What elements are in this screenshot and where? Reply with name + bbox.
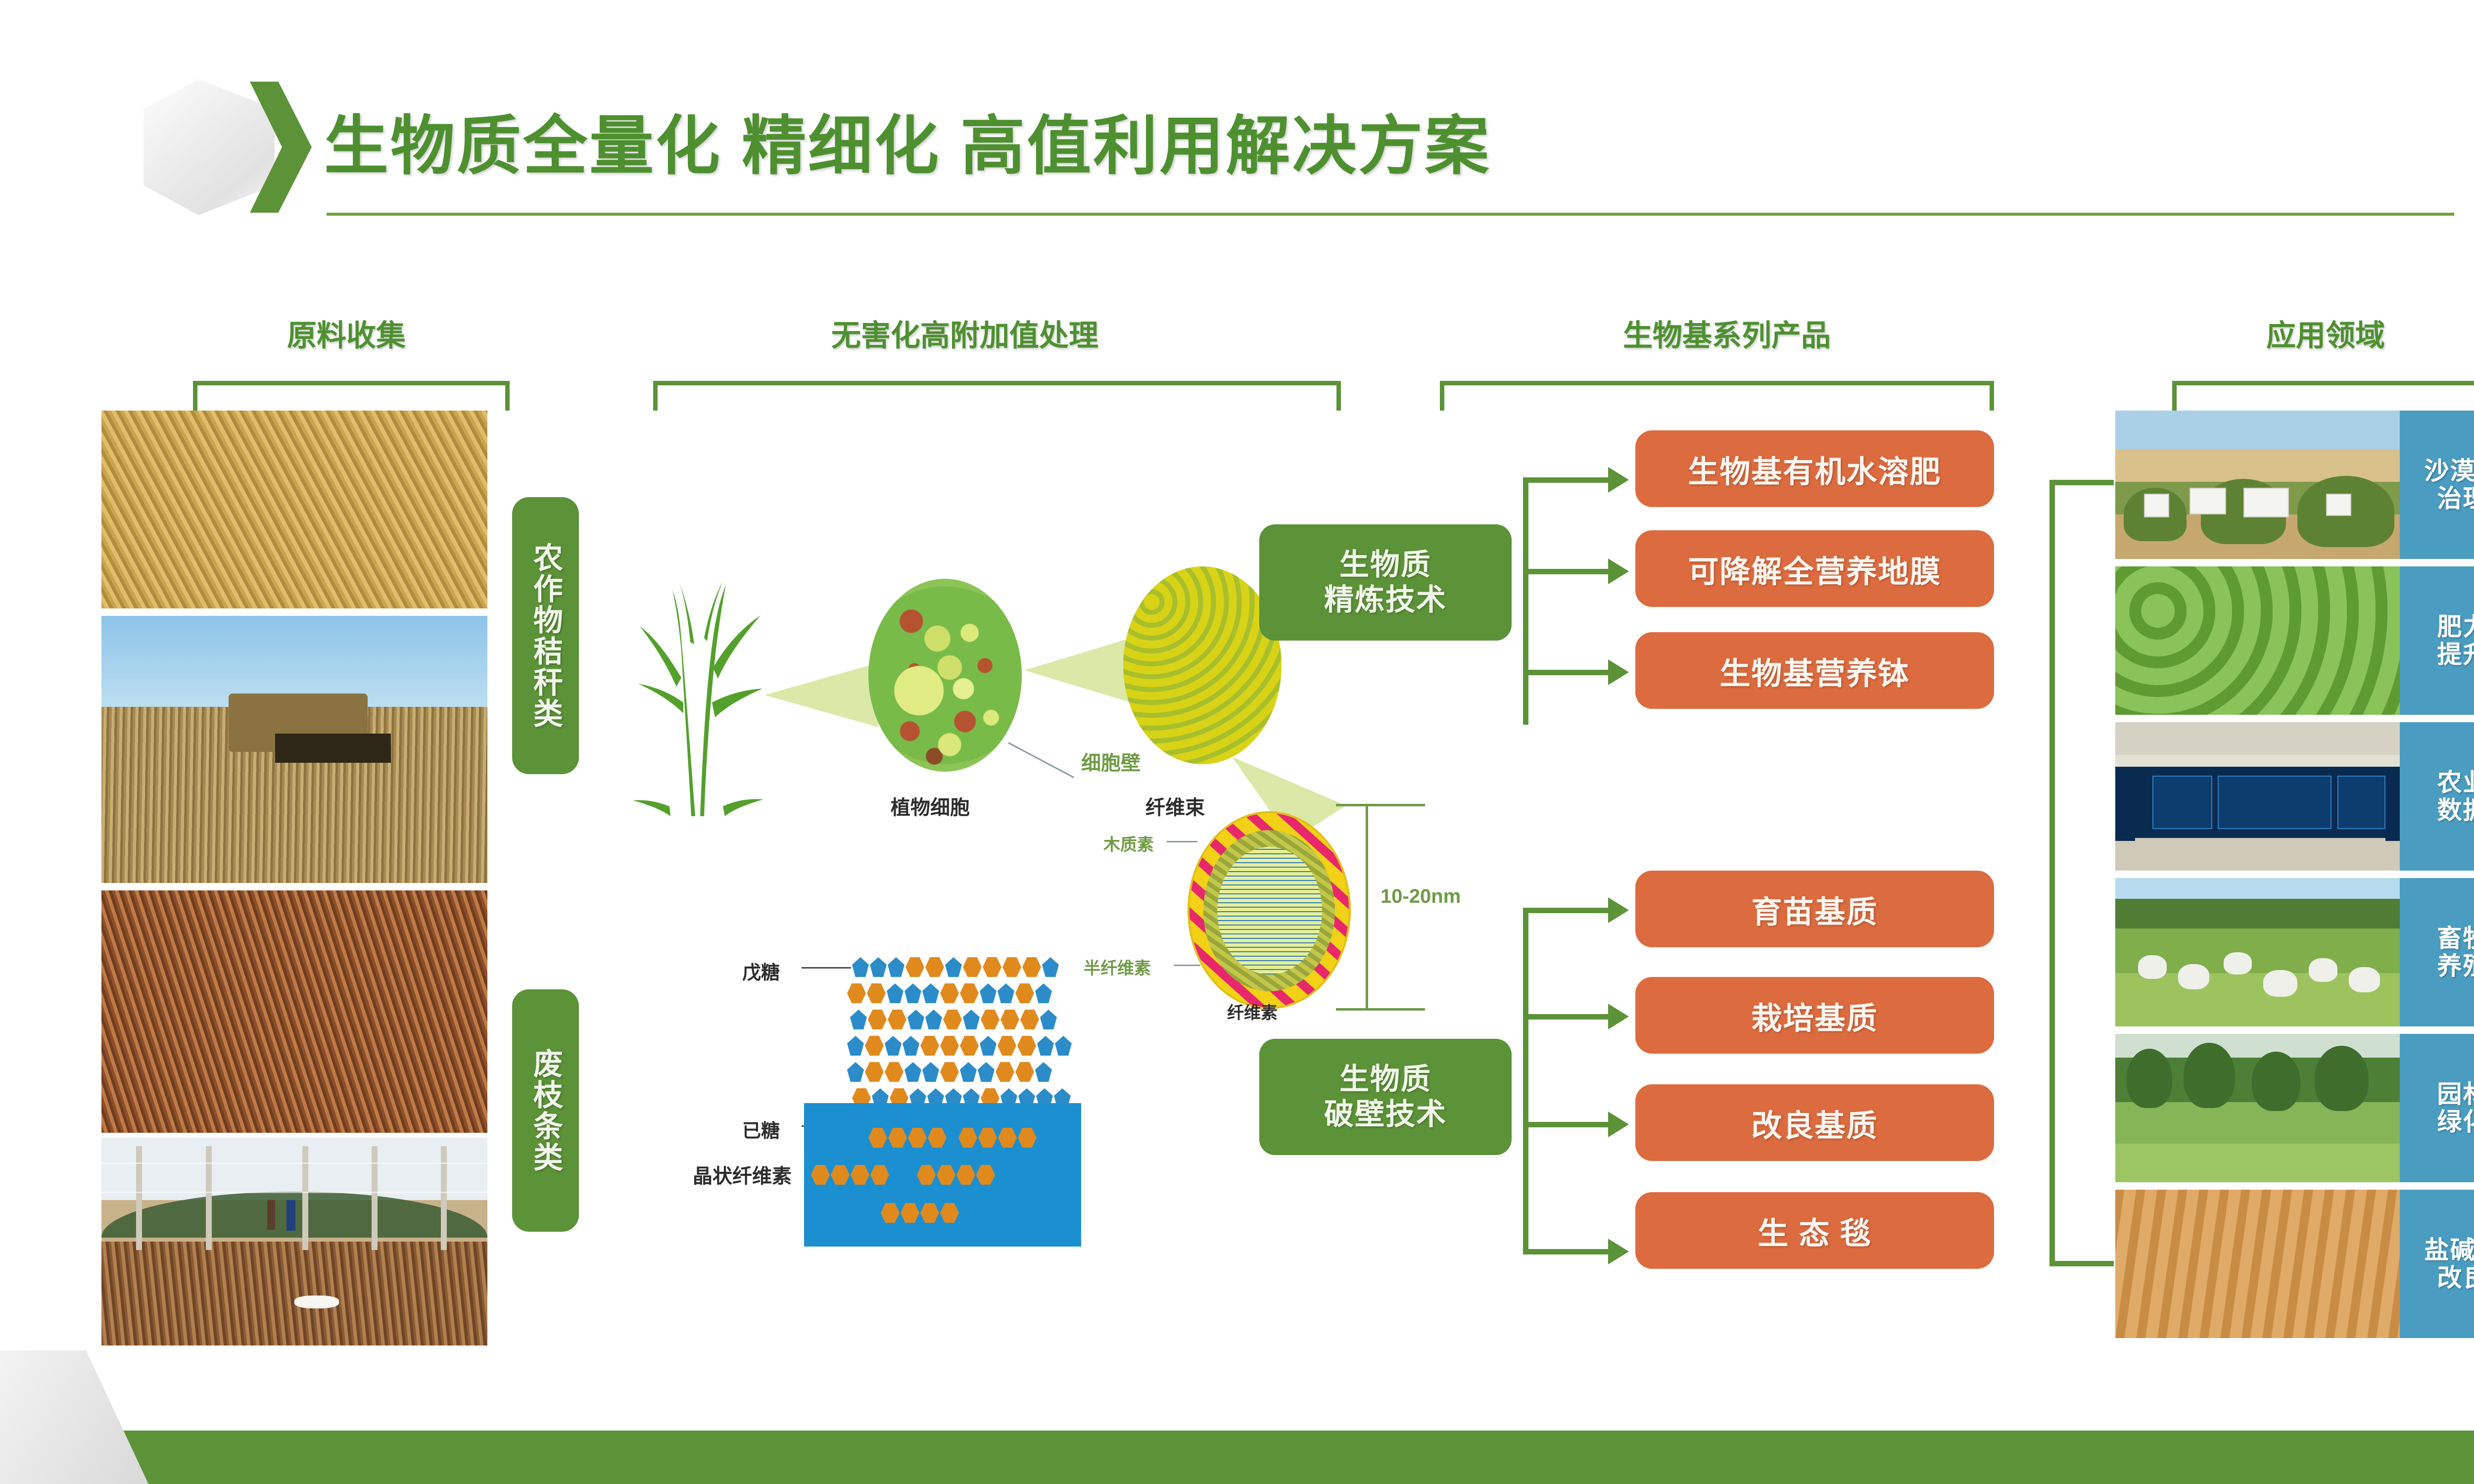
app-tag-line2: 治理 bbox=[2437, 485, 2474, 512]
feedstock-photo-straw-closeup bbox=[101, 411, 487, 608]
product-box-seedling-substrate[interactable]: 育苗基质 bbox=[1635, 871, 1994, 947]
section-header-applications: 应用领域 bbox=[2118, 312, 2474, 355]
application-tag-landscape-greening[interactable]: 园林 绿化 bbox=[2400, 1034, 2474, 1182]
label-hemicellulose: 半纤维素 bbox=[1084, 955, 1151, 979]
feedstock-tab-crop-straw[interactable]: 农作物秸秆类 bbox=[512, 497, 579, 774]
label-lignin: 木质素 bbox=[1103, 831, 1154, 855]
magnify-wedge-2 bbox=[1024, 638, 1131, 702]
sugar-chain-row bbox=[847, 983, 1052, 1003]
application-photo-cabbage-field bbox=[2115, 566, 2400, 715]
connector-branch-top-2 bbox=[1523, 569, 1612, 574]
app-tag-line1: 肥力 bbox=[2437, 613, 2474, 641]
connector-branch-top-3 bbox=[1523, 670, 1612, 675]
hexagon-decoration bbox=[143, 79, 275, 215]
footer-corner-decoration bbox=[0, 1350, 148, 1484]
application-photo-sheep-pasture bbox=[2115, 878, 2400, 1026]
connector-branch-bottom-1 bbox=[1523, 908, 1612, 913]
arrow-head-top-2 bbox=[1608, 558, 1629, 584]
section-header-processing: 无害化高附加值处理 bbox=[579, 312, 1351, 355]
arrow-head-bottom-2 bbox=[1608, 1004, 1629, 1029]
bracket-processing bbox=[653, 381, 1341, 411]
app-tag-line2: 改良 bbox=[2437, 1264, 2474, 1292]
application-tag-livestock-farming[interactable]: 畜牧 养殖 bbox=[2400, 878, 2474, 1026]
fiber-bundle-illustration bbox=[1123, 566, 1282, 764]
sugar-chain-row bbox=[852, 957, 1059, 977]
dimension-tick-bottom bbox=[1336, 1008, 1425, 1011]
application-photo-data-center bbox=[2115, 722, 2400, 871]
sugar-chain-row bbox=[847, 1062, 1052, 1082]
label-plant-cell: 植物细胞 bbox=[891, 791, 970, 820]
bracket-applications bbox=[2172, 381, 2474, 411]
product-box-improvement-substrate[interactable]: 改良基质 bbox=[1635, 1084, 1994, 1161]
sugar-chain-row bbox=[847, 1036, 1072, 1056]
app-tag-line2: 数据 bbox=[2437, 796, 2474, 824]
app-tag-line1: 园林 bbox=[2437, 1080, 2474, 1108]
applications-bracket-bottom bbox=[2049, 1261, 2114, 1266]
title-divider bbox=[327, 213, 2454, 216]
application-tag-saline-soil-improvement[interactable]: 盐碱地 改良 bbox=[2400, 1190, 2474, 1338]
cell-wall-leader-line bbox=[1008, 742, 1074, 778]
section-header-products: 生物基系列产品 bbox=[1445, 312, 2009, 355]
feedstock-photo-orchard-prunings bbox=[101, 1138, 487, 1345]
application-tag-desertification-control[interactable]: 沙漠化 治理 bbox=[2400, 411, 2474, 559]
label-pentose: 戊糖 bbox=[742, 957, 780, 984]
arrow-head-bottom-3 bbox=[1608, 1112, 1629, 1137]
infographic-canvas: 生物质全量化 精细化 高值利用解决方案 原料收集 无害化高附加值处理 生物基系列… bbox=[0, 0, 2474, 1484]
tech-breaking-line2: 破壁技术 bbox=[1324, 1097, 1447, 1132]
tech-box-refining[interactable]: 生物质 精炼技术 bbox=[1259, 524, 1512, 641]
tech-breaking-line1: 生物质 bbox=[1339, 1062, 1431, 1097]
app-tag-line1: 盐碱地 bbox=[2425, 1236, 2474, 1264]
tech-box-cell-wall-breaking[interactable]: 生物质 破壁技术 bbox=[1259, 1039, 1512, 1155]
lignin-leader-line bbox=[1167, 841, 1197, 842]
feedstock-tab-waste-branches[interactable]: 废枝条类 bbox=[512, 989, 579, 1232]
arrow-head-top-1 bbox=[1608, 467, 1629, 493]
app-tag-line2: 养殖 bbox=[2437, 952, 2474, 980]
feedstock-photo-straw-field bbox=[101, 616, 487, 883]
arrow-head-top-3 bbox=[1608, 659, 1629, 685]
grass-plant-icon bbox=[621, 554, 784, 821]
app-tag-line1: 沙漠化 bbox=[2425, 457, 2474, 485]
application-photo-saline-alkali-land bbox=[2115, 1190, 2400, 1338]
connector-branch-bottom-2 bbox=[1523, 1014, 1612, 1020]
dimension-line-vertical bbox=[1366, 804, 1368, 1009]
applications-bracket-trunk bbox=[2049, 480, 2055, 1266]
application-photo-landscape-greening bbox=[2115, 1034, 2400, 1182]
product-box-ecological-blanket[interactable]: 生 态 毯 bbox=[1635, 1192, 1994, 1269]
crystalline-cellulose-diagram bbox=[804, 1103, 1081, 1247]
application-tag-agricultural-data[interactable]: 农业 数据 bbox=[2400, 722, 2474, 871]
bracket-feedstock bbox=[193, 381, 510, 411]
applications-bracket-top bbox=[2049, 480, 2114, 485]
footer-bar bbox=[0, 1431, 2474, 1484]
app-tag-line1: 畜牧 bbox=[2437, 925, 2474, 952]
label-hexose: 已糖 bbox=[742, 1115, 780, 1143]
page-title: 生物质全量化 精细化 高值利用解决方案 bbox=[324, 94, 1491, 187]
arrow-head-bottom-1 bbox=[1608, 897, 1629, 923]
product-box-water-soluble-fertilizer[interactable]: 生物基有机水溶肥 bbox=[1635, 430, 1994, 507]
pentose-leader-line bbox=[802, 967, 851, 969]
dimension-tick-top bbox=[1336, 804, 1425, 806]
app-tag-line2: 绿化 bbox=[2437, 1108, 2474, 1136]
arrow-head-bottom-4 bbox=[1608, 1239, 1629, 1264]
hemicellulose-leader-line bbox=[1174, 965, 1200, 966]
feedstock-photo-branches bbox=[101, 890, 487, 1133]
tech-refining-line2: 精炼技术 bbox=[1324, 583, 1447, 618]
app-tag-line1: 农业 bbox=[2437, 769, 2474, 796]
tech-refining-line1: 生物质 bbox=[1339, 548, 1431, 583]
connector-trunk-top bbox=[1523, 477, 1528, 725]
label-fiber-bundle: 纤维束 bbox=[1145, 791, 1205, 820]
plant-cell-illustration bbox=[868, 579, 1022, 772]
connector-branch-top-1 bbox=[1523, 477, 1612, 483]
cellulose-core bbox=[1217, 847, 1322, 974]
product-box-biodegradable-mulch-film[interactable]: 可降解全营养地膜 bbox=[1635, 530, 1994, 607]
label-crystalline-cellulose: 晶状纤维素 bbox=[693, 1160, 792, 1189]
product-box-cultivation-substrate[interactable]: 栽培基质 bbox=[1635, 977, 1994, 1054]
connector-trunk-bottom bbox=[1523, 908, 1528, 1254]
label-cell-wall: 细胞壁 bbox=[1081, 747, 1141, 776]
label-cellulose: 纤维素 bbox=[1227, 999, 1278, 1023]
bracket-products bbox=[1440, 381, 1994, 411]
section-header-feedstock: 原料收集 bbox=[188, 312, 505, 355]
application-photo-desert-restoration bbox=[2115, 411, 2400, 559]
connector-branch-bottom-4 bbox=[1523, 1249, 1612, 1254]
product-box-nutrient-pot[interactable]: 生物基营养钵 bbox=[1635, 632, 1994, 709]
app-tag-line2: 提升 bbox=[2437, 641, 2474, 668]
sugar-chain-row bbox=[850, 1010, 1057, 1029]
connector-branch-bottom-3 bbox=[1523, 1122, 1612, 1127]
application-tag-fertility-improvement[interactable]: 肥力 提升 bbox=[2400, 566, 2474, 715]
label-fiber-size: 10-20nm bbox=[1380, 885, 1461, 908]
